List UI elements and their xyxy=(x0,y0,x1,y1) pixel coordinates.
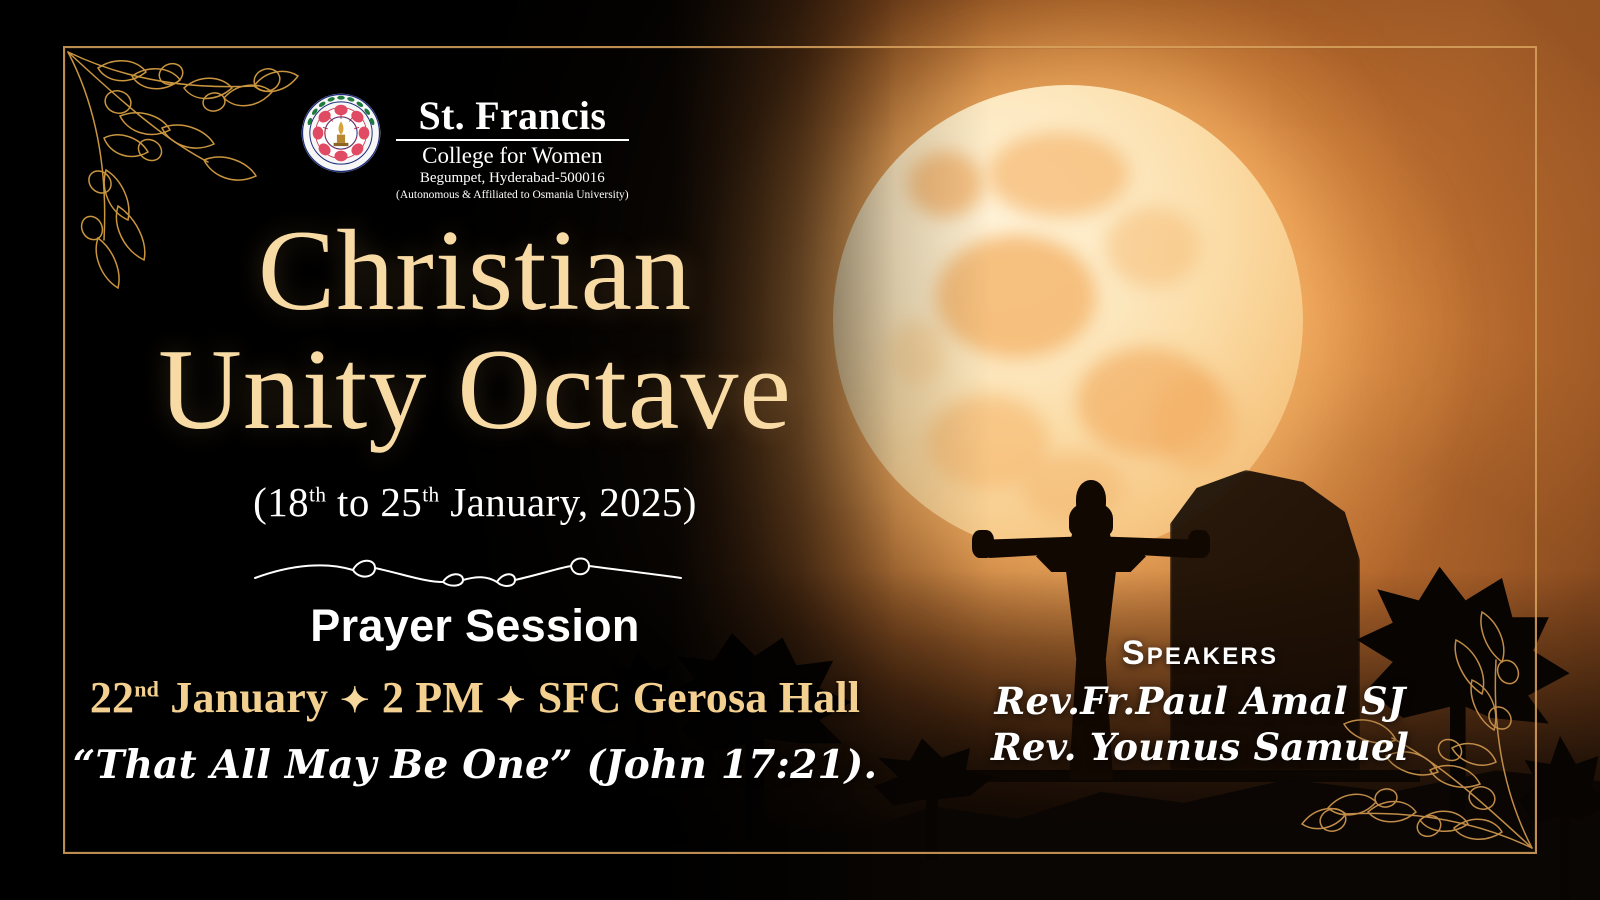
scripture-quote: “That All May Be One” (John 17:21). xyxy=(0,742,950,788)
date-end-day: 25 xyxy=(380,479,422,525)
speaker-name: Rev.Fr.Paul Amal SJ xyxy=(960,679,1440,725)
session-details: 22nd January✦2 PM✦SFC Gerosa Hall xyxy=(0,672,950,723)
college-name: St. Francis xyxy=(396,96,629,135)
speakers-heading: Speakers xyxy=(960,634,1440,673)
logo-divider-rule xyxy=(396,139,629,141)
session-day: 22 xyxy=(90,673,134,722)
college-logo: St. Francis College for Women Begumpet, … xyxy=(300,92,629,202)
poster-title: Christian Unity Octave xyxy=(0,214,950,448)
session-heading: Prayer Session xyxy=(0,600,950,652)
date-end-ordinal: th xyxy=(422,482,439,506)
title-line-2: Unity Octave xyxy=(0,333,950,448)
speaker-name: Rev. Younus Samuel xyxy=(960,725,1440,771)
event-date-range: (18th to 25th January, 2025) xyxy=(0,478,950,526)
date-start-ordinal: th xyxy=(309,482,326,506)
title-line-1: Christian xyxy=(0,214,950,329)
date-to: to xyxy=(326,479,380,525)
flourish-divider-icon xyxy=(253,556,683,590)
college-subtitle: College for Women xyxy=(396,144,629,168)
college-crest-icon xyxy=(300,92,382,174)
college-address: Begumpet, Hyderabad-500016 xyxy=(396,170,629,187)
star-separator-icon: ✦ xyxy=(328,681,382,720)
date-start-day: 18 xyxy=(267,479,309,525)
date-open-paren: ( xyxy=(253,479,267,525)
session-venue: SFC Gerosa Hall xyxy=(538,673,860,722)
session-day-ordinal: nd xyxy=(134,676,159,701)
poster-content: St. Francis College for Women Begumpet, … xyxy=(0,0,1600,900)
session-time: 2 PM xyxy=(382,673,484,722)
college-affiliation: (Autonomous & Affiliated to Osmania Univ… xyxy=(396,189,629,202)
speakers-section: Speakers Rev.Fr.Paul Amal SJ Rev. Younus… xyxy=(960,634,1440,771)
session-month: January xyxy=(159,673,328,722)
star-separator-icon: ✦ xyxy=(484,681,538,720)
date-month-year: January, 2025) xyxy=(440,479,697,525)
poster-canvas: St. Francis College for Women Begumpet, … xyxy=(0,0,1600,900)
